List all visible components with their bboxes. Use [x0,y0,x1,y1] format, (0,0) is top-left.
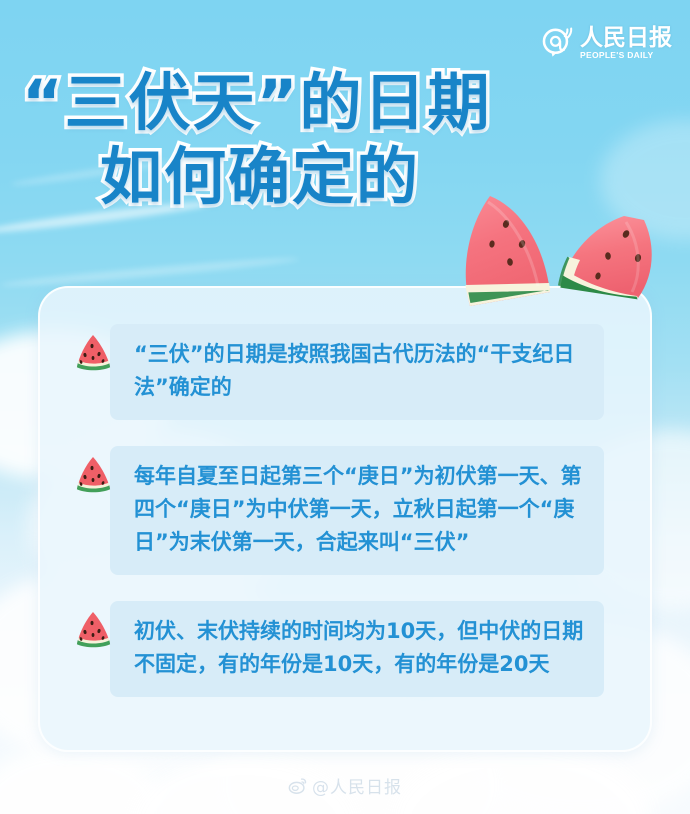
logo-wordmark: 人民日报 PEOPLE'S DAILY [580,26,672,60]
list-item: 每年自夏至日起第三个“庚日”为初伏第一天、第四个“庚日”为中伏第一天，立秋日起第… [40,446,650,575]
weibo-icon [288,776,308,796]
page-title: “三伏天”的日期 如何确定的 [0,66,690,214]
content-rows: “三伏”的日期是按照我国古代历法的“干支纪日法”确定的 [40,288,650,723]
peoples-daily-logo: 人民日报 PEOPLE'S DAILY [541,26,672,60]
list-item-text: “三伏”的日期是按照我国古代历法的“干支纪日法”确定的 [134,338,586,404]
signal-waves-icon [565,29,571,38]
at-sign-icon [541,26,575,60]
list-item: 初伏、末伏持续的时间均为10天，但中伏的日期不固定，有的年份是10天，有的年份是… [40,601,650,697]
title-line-1: “三伏天”的日期 [0,66,690,140]
list-item-bubble: 初伏、末伏持续的时间均为10天，但中伏的日期不固定，有的年份是10天，有的年份是… [110,601,604,697]
list-item-bubble: “三伏”的日期是按照我国古代历法的“干支纪日法”确定的 [110,324,604,420]
logo-cn-text: 人民日报 [580,26,672,49]
infographic-poster: 人民日报 PEOPLE'S DAILY “三伏天”的日期 如何确定的 [0,0,690,814]
list-item-text: 初伏、末伏持续的时间均为10天，但中伏的日期不固定，有的年份是10天，有的年份是… [134,615,586,681]
watermelon-slice-icon [70,330,116,376]
content-card: “三伏”的日期是按照我国古代历法的“干支纪日法”确定的 [38,286,652,752]
logo-en-text: PEOPLE'S DAILY [580,51,672,60]
list-item-bubble: 每年自夏至日起第三个“庚日”为初伏第一天、第四个“庚日”为中伏第一天，立秋日起第… [110,446,604,575]
weibo-watermark: @人民日报 [0,773,690,798]
watermelon-slice-icon [70,452,116,498]
watermelon-slice-icon [70,607,116,653]
list-item: “三伏”的日期是按照我国古代历法的“干支纪日法”确定的 [40,324,650,420]
title-line-2: 如何确定的 [0,140,690,214]
wispy-cloud-decoration [0,255,300,289]
weibo-handle: @人民日报 [312,773,402,798]
list-item-text: 每年自夏至日起第三个“庚日”为初伏第一天、第四个“庚日”为中伏第一天，立秋日起第… [134,460,586,559]
